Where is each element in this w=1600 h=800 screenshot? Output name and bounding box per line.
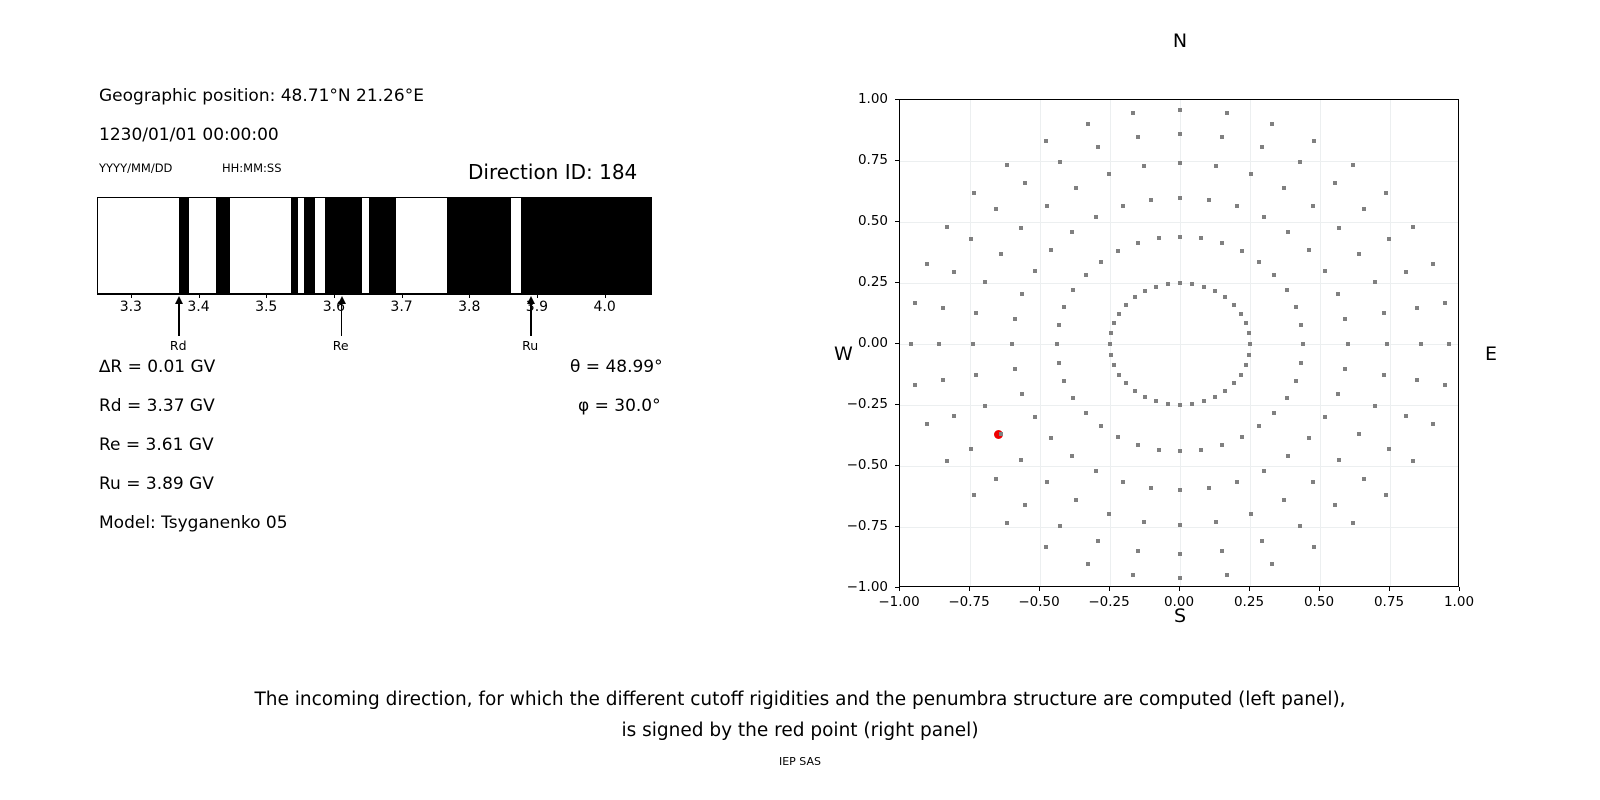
- direction-point: [1157, 448, 1161, 452]
- direction-point: [913, 383, 917, 387]
- direction-point: [1223, 389, 1227, 393]
- direction-point: [1033, 415, 1037, 419]
- direction-point: [1136, 549, 1140, 553]
- param-model: Model: Tsyganenko 05: [99, 513, 288, 533]
- direction-point: [1404, 414, 1408, 418]
- rigidity-tick: [402, 294, 403, 298]
- direction-point: [1411, 459, 1415, 463]
- direction-point: [1178, 235, 1182, 239]
- direction-point: [1086, 122, 1090, 126]
- direction-point: [1074, 498, 1078, 502]
- angle-phi: φ = 30.0°: [578, 396, 661, 416]
- x-axis-tick-label: 0.00: [1164, 594, 1194, 610]
- direction-point: [1109, 331, 1113, 335]
- direction-point: [1070, 454, 1074, 458]
- direction-point: [1096, 539, 1100, 543]
- direction-point: [1244, 363, 1248, 367]
- x-axis-tick: [1109, 587, 1110, 591]
- direction-point: [941, 378, 945, 382]
- direction-point: [1058, 160, 1062, 164]
- direction-point: [1099, 424, 1103, 428]
- arrow-up-icon: [338, 296, 346, 304]
- direction-point: [1431, 262, 1435, 266]
- y-axis-tick: [895, 404, 899, 405]
- direction-point: [1094, 215, 1098, 219]
- rigidity-tick-label: 3.3: [120, 299, 142, 315]
- direction-point: [1131, 573, 1135, 577]
- arrow-up-icon: [175, 296, 183, 304]
- direction-point: [1013, 367, 1017, 371]
- direction-point: [1108, 342, 1112, 346]
- direction-point: [1337, 458, 1341, 462]
- forbidden-band: [216, 198, 230, 293]
- time-format-hint: HH:MM:SS: [222, 161, 282, 175]
- compass-label-north: N: [1173, 30, 1187, 52]
- angle-theta: θ = 48.99°: [570, 357, 663, 377]
- y-axis-tick-label: −1.00: [830, 579, 888, 595]
- direction-point: [1357, 252, 1361, 256]
- direction-point: [1387, 447, 1391, 451]
- direction-point: [909, 342, 913, 346]
- direction-point: [1112, 321, 1116, 325]
- x-axis-tick-label: −1.00: [878, 594, 919, 610]
- y-axis-tick: [895, 160, 899, 161]
- direction-point: [1109, 353, 1113, 357]
- direction-point: [1023, 503, 1027, 507]
- direction-point: [971, 342, 975, 346]
- rigidity-marker-label: Ru: [522, 338, 538, 353]
- direction-point: [1149, 198, 1153, 202]
- direction-point: [1143, 395, 1147, 399]
- direction-point: [1387, 237, 1391, 241]
- direction-point: [1124, 381, 1128, 385]
- y-axis-tick-label: 0.00: [830, 335, 888, 351]
- rigidity-tick: [199, 294, 200, 298]
- y-axis-tick: [895, 343, 899, 344]
- direction-point: [1149, 486, 1153, 490]
- direction-point: [1062, 379, 1066, 383]
- direction-point: [1136, 443, 1140, 447]
- direction-point: [1202, 285, 1206, 289]
- y-axis-tick: [895, 526, 899, 527]
- direction-point: [1357, 432, 1361, 436]
- direction-point: [1343, 317, 1347, 321]
- forbidden-band: [179, 198, 189, 293]
- direction-point: [1142, 164, 1146, 168]
- direction-point: [1270, 562, 1274, 566]
- gridline-vertical: [1390, 100, 1391, 586]
- direction-point: [1178, 552, 1182, 556]
- x-axis-tick-label: −0.75: [948, 594, 989, 610]
- direction-point: [1220, 241, 1224, 245]
- y-axis-tick: [895, 99, 899, 100]
- direction-point: [1133, 295, 1137, 299]
- direction-point: [1337, 226, 1341, 230]
- direction-point: [1112, 363, 1116, 367]
- direction-point: [1045, 480, 1049, 484]
- x-axis-tick: [1039, 587, 1040, 591]
- param-ru: Ru = 3.89 GV: [99, 474, 214, 494]
- direction-point: [937, 342, 941, 346]
- direction-point: [969, 237, 973, 241]
- direction-point: [1447, 342, 1451, 346]
- direction-point: [1099, 260, 1103, 264]
- rigidity-tick: [537, 294, 538, 298]
- gridline-vertical: [1040, 100, 1041, 586]
- direction-point: [1178, 108, 1182, 112]
- direction-point: [1346, 342, 1350, 346]
- direction-point: [1058, 524, 1062, 528]
- direction-point: [1362, 477, 1366, 481]
- direction-point: [1190, 402, 1194, 406]
- direction-point: [1062, 305, 1066, 309]
- date-format-hint: YYYY/MM/DD: [99, 161, 172, 175]
- direction-point: [1298, 160, 1302, 164]
- param-delta-r: ∆R = 0.01 GV: [99, 357, 215, 377]
- direction-point: [1157, 236, 1161, 240]
- direction-point: [952, 414, 956, 418]
- direction-point: [1443, 383, 1447, 387]
- gridline-horizontal: [900, 466, 1458, 467]
- direction-point: [1096, 145, 1100, 149]
- direction-point: [1071, 288, 1075, 292]
- direction-point: [1419, 342, 1423, 346]
- direction-point: [1312, 139, 1316, 143]
- direction-point: [1116, 249, 1120, 253]
- arrow-shaft: [530, 302, 531, 336]
- datetime-label: 1230/01/01 00:00:00: [99, 125, 279, 145]
- direction-point: [1020, 292, 1024, 296]
- direction-point: [1285, 396, 1289, 400]
- direction-id-label: Direction ID: 184: [468, 160, 637, 184]
- direction-point: [1311, 480, 1315, 484]
- rigidity-tick: [131, 294, 132, 298]
- y-axis-tick-label: 0.50: [830, 213, 888, 229]
- direction-point: [1057, 361, 1061, 365]
- direction-point: [925, 422, 929, 426]
- arrow-shaft: [178, 302, 179, 336]
- direction-point: [1244, 321, 1248, 325]
- direction-point: [1142, 520, 1146, 524]
- direction-point: [1411, 225, 1415, 229]
- x-axis-tick-label: 0.75: [1374, 594, 1404, 610]
- arrow-up-icon: [527, 296, 535, 304]
- gridline-horizontal: [900, 222, 1458, 223]
- rigidity-tick-label: 3.4: [187, 299, 209, 315]
- direction-point: [1260, 145, 1264, 149]
- direction-point: [1294, 379, 1298, 383]
- direction-point: [1282, 186, 1286, 190]
- y-axis-tick-label: −0.50: [830, 457, 888, 473]
- x-axis-tick-label: −0.25: [1088, 594, 1129, 610]
- figure-caption: The incoming direction, for which the di…: [0, 684, 1600, 746]
- direction-point: [1070, 230, 1074, 234]
- direction-point: [1270, 122, 1274, 126]
- direction-point: [1282, 498, 1286, 502]
- direction-point: [1249, 512, 1253, 516]
- direction-point: [1373, 404, 1377, 408]
- compass-label-east: E: [1485, 343, 1497, 365]
- direction-point: [1044, 139, 1048, 143]
- direction-point: [1121, 204, 1125, 208]
- direction-point: [1272, 273, 1276, 277]
- forbidden-band: [447, 198, 511, 293]
- direction-point: [1415, 306, 1419, 310]
- direction-point: [1298, 524, 1302, 528]
- rigidity-tick: [266, 294, 267, 298]
- direction-point: [1333, 181, 1337, 185]
- direction-point: [1023, 181, 1027, 185]
- direction-point: [1248, 342, 1252, 346]
- direction-point: [1107, 512, 1111, 516]
- direction-point: [1384, 191, 1388, 195]
- gridline-vertical: [1180, 100, 1181, 586]
- direction-point: [1178, 132, 1182, 136]
- direction-point: [1232, 303, 1236, 307]
- y-axis-tick-label: −0.25: [830, 396, 888, 412]
- x-axis-tick: [969, 587, 970, 591]
- direction-point: [1033, 269, 1037, 273]
- direction-point: [1220, 443, 1224, 447]
- direction-point: [1049, 436, 1053, 440]
- direction-point: [1178, 449, 1182, 453]
- rigidity-marker-label: Re: [333, 338, 349, 353]
- direction-point: [1213, 395, 1217, 399]
- direction-point: [1005, 163, 1009, 167]
- direction-point: [1178, 523, 1182, 527]
- direction-point: [1049, 248, 1053, 252]
- direction-point: [1084, 273, 1088, 277]
- direction-point: [1190, 282, 1194, 286]
- direction-point: [1240, 249, 1244, 253]
- direction-point: [1121, 480, 1125, 484]
- direction-point: [1020, 392, 1024, 396]
- forbidden-band: [325, 198, 362, 293]
- direction-point: [1214, 520, 1218, 524]
- forbidden-band: [304, 198, 314, 293]
- direction-point: [1443, 301, 1447, 305]
- direction-point: [1117, 373, 1121, 377]
- direction-point: [1133, 389, 1137, 393]
- direction-point: [972, 191, 976, 195]
- direction-point: [1343, 367, 1347, 371]
- forbidden-band: [369, 198, 396, 293]
- direction-point: [1249, 172, 1253, 176]
- direction-point: [1154, 285, 1158, 289]
- direction-point: [1207, 198, 1211, 202]
- direction-point: [1333, 503, 1337, 507]
- direction-point: [1257, 424, 1261, 428]
- direction-point: [1307, 248, 1311, 252]
- direction-point: [1257, 260, 1261, 264]
- rigidity-tick-label: 3.8: [458, 299, 480, 315]
- direction-point: [1307, 436, 1311, 440]
- caption-line-2: is signed by the red point (right panel): [0, 715, 1600, 746]
- direction-point: [1262, 215, 1266, 219]
- direction-point: [1005, 521, 1009, 525]
- y-axis-tick: [895, 221, 899, 222]
- direction-point: [1094, 469, 1098, 473]
- direction-point: [1262, 469, 1266, 473]
- penumbra-spectrum-bar: [97, 197, 652, 294]
- direction-point: [1239, 373, 1243, 377]
- direction-point: [1178, 576, 1182, 580]
- direction-point: [1286, 230, 1290, 234]
- caption-line-1: The incoming direction, for which the di…: [0, 684, 1600, 715]
- direction-point: [1382, 373, 1386, 377]
- direction-point: [945, 459, 949, 463]
- direction-point: [913, 301, 917, 305]
- x-axis-tick: [1459, 587, 1460, 591]
- direction-point: [974, 373, 978, 377]
- x-axis-tick: [1319, 587, 1320, 591]
- direction-point: [1044, 545, 1048, 549]
- direction-point: [1382, 311, 1386, 315]
- direction-point: [1336, 392, 1340, 396]
- direction-point: [1235, 204, 1239, 208]
- direction-point: [1323, 415, 1327, 419]
- rigidity-axis: 3.33.43.53.63.73.83.94.0RdReRu: [97, 294, 652, 354]
- direction-point: [945, 225, 949, 229]
- param-re: Re = 3.61 GV: [99, 435, 214, 455]
- direction-point: [1131, 111, 1135, 115]
- y-axis-tick: [895, 465, 899, 466]
- direction-point: [1074, 186, 1078, 190]
- rigidity-tick-label: 3.7: [390, 299, 412, 315]
- direction-point: [969, 447, 973, 451]
- geographic-position-label: Geographic position: 48.71°N 21.26°E: [99, 86, 424, 106]
- rigidity-tick: [605, 294, 606, 298]
- direction-point: [1214, 164, 1218, 168]
- direction-point: [1373, 280, 1377, 284]
- direction-point: [1225, 111, 1229, 115]
- direction-point: [1202, 399, 1206, 403]
- scatter-plot-area: [899, 99, 1459, 587]
- direction-point: [1084, 411, 1088, 415]
- direction-point: [1178, 196, 1182, 200]
- direction-point: [1385, 342, 1389, 346]
- y-axis-tick-label: 0.75: [830, 152, 888, 168]
- y-axis-tick-label: −0.75: [830, 518, 888, 534]
- direction-point: [1286, 454, 1290, 458]
- direction-point: [1057, 323, 1061, 327]
- direction-point: [999, 252, 1003, 256]
- direction-point: [1136, 135, 1140, 139]
- direction-point: [1178, 488, 1182, 492]
- direction-point: [1235, 480, 1239, 484]
- x-axis-tick: [899, 587, 900, 591]
- direction-point: [974, 311, 978, 315]
- x-axis-tick: [1249, 587, 1250, 591]
- direction-point: [1240, 435, 1244, 439]
- x-axis-tick: [1389, 587, 1390, 591]
- direction-point: [1199, 236, 1203, 240]
- x-axis-tick-label: 0.50: [1304, 594, 1334, 610]
- direction-map-panel: N W E S −1.00−0.75−0.50−0.250.000.250.50…: [830, 30, 1530, 650]
- y-axis-tick: [895, 282, 899, 283]
- direction-point: [1199, 448, 1203, 452]
- direction-point: [1351, 521, 1355, 525]
- direction-point: [1019, 226, 1023, 230]
- direction-point: [1404, 270, 1408, 274]
- direction-point: [1299, 323, 1303, 327]
- direction-point: [1010, 342, 1014, 346]
- direction-point: [1312, 545, 1316, 549]
- direction-point: [1415, 378, 1419, 382]
- direction-point: [1272, 411, 1276, 415]
- direction-point: [1223, 295, 1227, 299]
- left-panel: Geographic position: 48.71°N 21.26°E 123…: [0, 0, 760, 660]
- direction-point: [999, 432, 1003, 436]
- rigidity-tick: [469, 294, 470, 298]
- direction-point: [1301, 342, 1305, 346]
- direction-point: [983, 280, 987, 284]
- direction-point: [1220, 135, 1224, 139]
- forbidden-band: [291, 198, 298, 293]
- direction-point: [1143, 289, 1147, 293]
- rigidity-tick-label: 3.5: [255, 299, 277, 315]
- x-axis-tick-label: 0.25: [1234, 594, 1264, 610]
- direction-point: [1154, 399, 1158, 403]
- direction-point: [1166, 402, 1170, 406]
- direction-point: [925, 262, 929, 266]
- direction-point: [1323, 269, 1327, 273]
- rigidity-tick: [334, 294, 335, 298]
- direction-point: [1124, 303, 1128, 307]
- direction-point: [1136, 241, 1140, 245]
- direction-point: [1166, 282, 1170, 286]
- direction-point: [1384, 493, 1388, 497]
- footer-credit: IEP SAS: [0, 755, 1600, 768]
- rigidity-marker-label: Rd: [170, 338, 187, 353]
- x-axis-tick-label: 1.00: [1444, 594, 1474, 610]
- direction-point: [1351, 163, 1355, 167]
- arrow-shaft: [341, 302, 342, 336]
- direction-point: [1225, 573, 1229, 577]
- direction-point: [1045, 204, 1049, 208]
- direction-point: [1362, 207, 1366, 211]
- direction-point: [1232, 381, 1236, 385]
- direction-point: [1311, 204, 1315, 208]
- y-axis-tick-label: 0.25: [830, 274, 888, 290]
- gridline-horizontal: [900, 527, 1458, 528]
- direction-point: [1207, 486, 1211, 490]
- direction-point: [1431, 422, 1435, 426]
- direction-point: [1071, 396, 1075, 400]
- direction-point: [1247, 331, 1251, 335]
- direction-point: [1336, 292, 1340, 296]
- direction-point: [972, 493, 976, 497]
- rigidity-tick-label: 4.0: [593, 299, 615, 315]
- direction-point: [1055, 342, 1059, 346]
- direction-point: [1086, 562, 1090, 566]
- direction-point: [1285, 288, 1289, 292]
- direction-point: [983, 404, 987, 408]
- x-axis-tick-label: −0.50: [1018, 594, 1059, 610]
- direction-point: [1299, 361, 1303, 365]
- direction-point: [952, 270, 956, 274]
- gridline-vertical: [1320, 100, 1321, 586]
- direction-point: [1220, 549, 1224, 553]
- direction-point: [1117, 312, 1121, 316]
- direction-point: [1260, 539, 1264, 543]
- forbidden-band: [521, 198, 652, 293]
- direction-point: [994, 477, 998, 481]
- y-axis-tick-label: 1.00: [830, 91, 888, 107]
- direction-point: [1213, 289, 1217, 293]
- direction-point: [1178, 403, 1182, 407]
- gridline-horizontal: [900, 344, 1458, 345]
